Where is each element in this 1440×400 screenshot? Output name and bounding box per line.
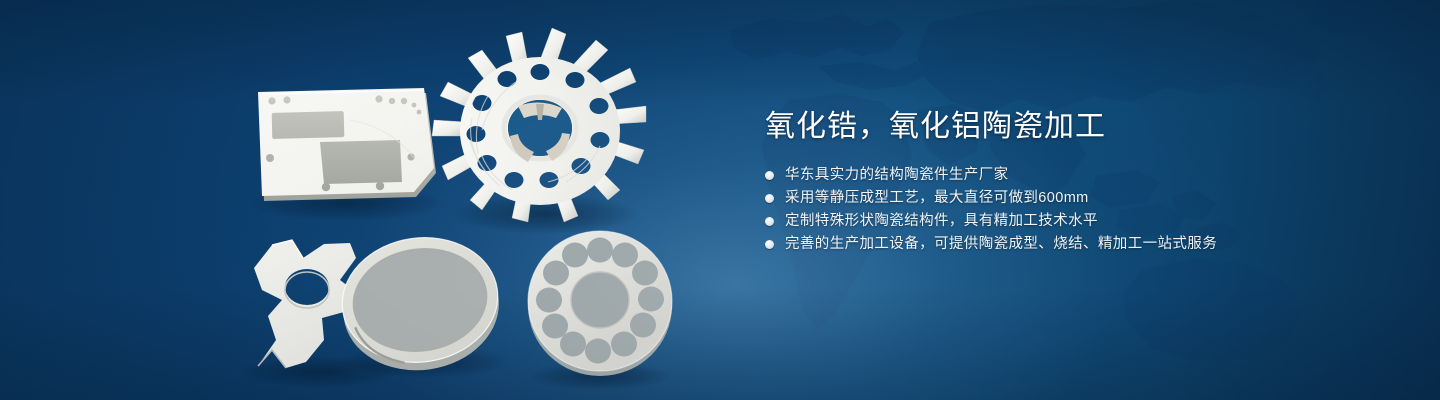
list-item: 完善的生产加工设备，可提供陶瓷成型、烧结、精加工一站式服务 [765,233,1385,256]
bullet-dot-icon [765,240,774,249]
list-item-label: 定制特殊形状陶瓷结构件，具有精加工技术水平 [785,210,1098,233]
banner-copy: 氧化锆，氧化铝陶瓷加工 华东具实力的结构陶瓷件生产厂家 采用等静压成型工艺，最大… [765,106,1385,256]
list-item: 定制特殊形状陶瓷结构件，具有精加工技术水平 [765,210,1385,233]
bullet-dot-icon [765,217,774,226]
feature-list: 华东具实力的结构陶瓷件生产厂家 采用等静压成型工艺，最大直径可做到600mm 定… [765,164,1385,256]
list-item-label: 华东具实力的结构陶瓷件生产厂家 [785,164,1009,187]
page-title: 氧化锆，氧化铝陶瓷加工 [765,106,1385,148]
bullet-dot-icon [765,171,774,180]
bullet-dot-icon [765,194,774,203]
list-item: 华东具实力的结构陶瓷件生产厂家 [765,164,1385,187]
ceramic-hole-disc-part [0,0,720,400]
list-item: 采用等静压成型工艺，最大直径可做到600mm [765,187,1385,210]
list-item-label: 完善的生产加工设备，可提供陶瓷成型、烧结、精加工一站式服务 [785,233,1217,256]
list-item-label: 采用等静压成型工艺，最大直径可做到600mm [785,187,1089,210]
promo-banner: 氧化锆，氧化铝陶瓷加工 华东具实力的结构陶瓷件生产厂家 采用等静压成型工艺，最大… [0,0,1440,400]
ceramic-products-image [0,0,720,400]
